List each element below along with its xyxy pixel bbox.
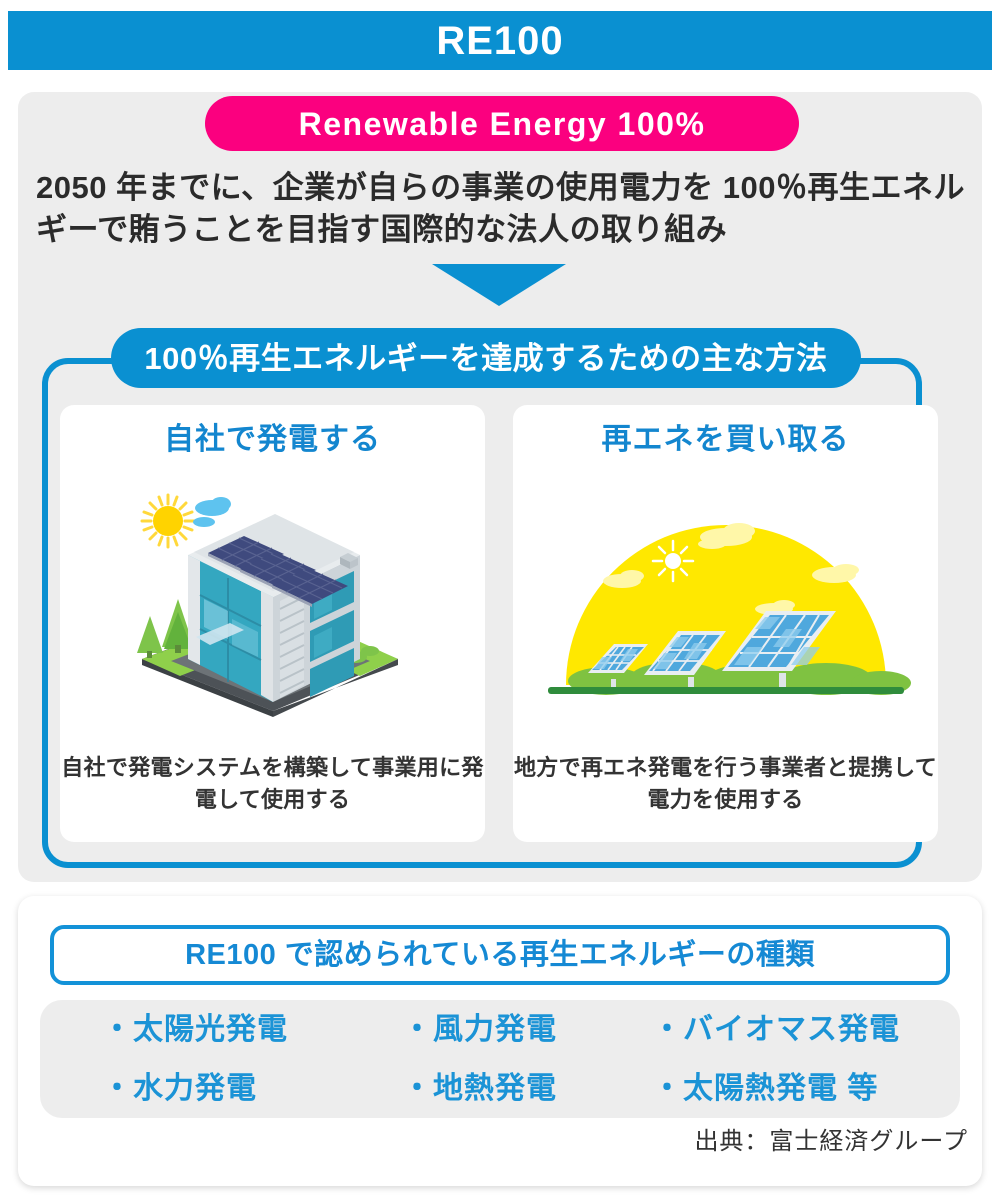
- list-item: ・風力発電: [402, 1015, 652, 1045]
- list-item: ・水力発電: [102, 1074, 402, 1104]
- energy-types-heading-label: RE100 で認められている再生エネルギーの種類: [185, 941, 815, 970]
- method-card-title: 再エネを買い取る: [602, 423, 850, 456]
- intro-description: 2050 年までに、企業が自らの事業の使用電力を 100％再生エネルギーで賄うこ…: [36, 167, 966, 251]
- energy-types-heading-box: RE100 で認められている再生エネルギーの種類: [50, 925, 950, 985]
- methods-heading-pill: 100％再生エネルギーを達成するための主な方法: [111, 328, 861, 388]
- method-card-title: 自社で発電する: [164, 423, 381, 456]
- method-card-purchase-renewable: 再エネを買い取る: [513, 405, 938, 842]
- list-item: ・バイオマス発電: [652, 1015, 982, 1045]
- method-card-self-generation: 自社で発電する: [60, 405, 485, 842]
- list-item: ・太陽熱発電 等: [652, 1074, 982, 1104]
- triangle-down-icon: [432, 264, 566, 306]
- renewable-energy-badge-label: Renewable Energy 100%: [299, 108, 706, 140]
- method-card-caption: 地方で再エネ発電を行う事業者と提携して電力を使用する: [513, 752, 938, 842]
- energy-types-list: ・太陽光発電 ・風力発電 ・バイオマス発電 ・水力発電 ・地熱発電 ・太陽熱発電…: [40, 1000, 960, 1118]
- page-title-bar: RE100: [8, 11, 992, 70]
- solar-farm-panels-with-sun-icon: [513, 456, 938, 752]
- list-item: ・地熱発電: [402, 1074, 652, 1104]
- isometric-office-building-with-rooftop-solar-panels-icon: [60, 456, 485, 752]
- method-card-caption: 自社で発電システムを構築して事業用に発電して使用する: [60, 752, 485, 842]
- source-attribution: 出典：富士経済グループ: [694, 1130, 968, 1154]
- list-item: ・太陽光発電: [102, 1015, 402, 1045]
- methods-heading-label: 100％再生エネルギーを達成するための主な方法: [144, 343, 827, 374]
- infographic-page: RE100 Renewable Energy 100% 2050 年までに、企業…: [0, 0, 1000, 1200]
- page-title: RE100: [436, 21, 563, 61]
- renewable-energy-badge: Renewable Energy 100%: [205, 96, 799, 151]
